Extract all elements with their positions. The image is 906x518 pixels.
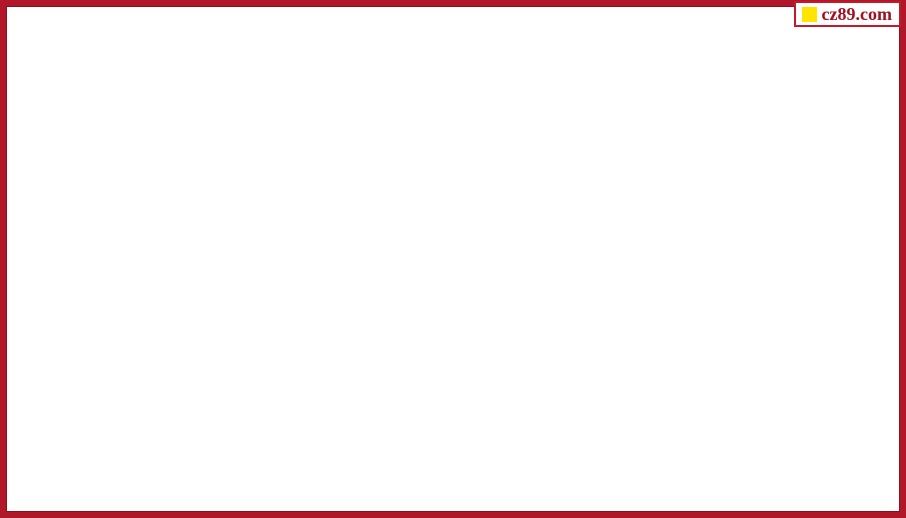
list-item-issue: 308期 — [408, 112, 476, 151]
list-item-body: 冬天今晚3d杀码更准6开奖 — [509, 247, 820, 286]
winter-photo — [12, 12, 354, 506]
photo-post — [224, 397, 226, 413]
lottery-poster: 3D 牛彩网 www.cz89.com 冬天 今晚3d杀码最准图 307期 冬天… — [0, 0, 906, 518]
watermark-url: www.cz89.com — [216, 476, 346, 493]
list-item: 307期 冬天今晚3d杀码更准5开奖164准 — [362, 64, 900, 109]
poster-title: 冬天 今晚3d杀码最准图 — [370, 12, 653, 62]
list-item: 309期 冬天今晚3d杀码更准4开奖190准 — [362, 154, 900, 199]
photo-post — [245, 407, 247, 420]
title-subtitle: 今晚3d杀码最准图 — [467, 37, 654, 59]
winter-photo-panel: 3D 牛彩网 www.cz89.com — [12, 12, 354, 506]
3d-logo-icon: 3D — [20, 20, 86, 76]
list-item-body: 冬天今晚3d杀码更准8开奖169准 — [476, 202, 854, 241]
list-item: 311期 冬天今晚3d杀码更准6开奖 — [362, 244, 900, 289]
photo-post — [265, 392, 267, 410]
photo-post — [286, 402, 288, 416]
list-item-body: 冬天今晚3d杀码更准5开奖164准 — [476, 67, 854, 106]
yellow-square-icon — [802, 7, 817, 22]
list-item-body: 冬天今晚3d杀码更准9开奖448准 — [476, 112, 854, 151]
photo-ridge-lines — [60, 131, 313, 279]
list-item-issue: 311期 — [443, 247, 510, 286]
list-item-issue: 310期 — [408, 202, 476, 241]
niucai-watermark: 牛彩网 www.cz89.com — [202, 440, 354, 498]
list-item: 308期 冬天今晚3d杀码更准9开奖448准 — [362, 109, 900, 154]
list-item: 310期 冬天今晚3d杀码更准8开奖169准 — [362, 199, 900, 244]
list-item-issue: 307期 — [408, 67, 476, 106]
logo-text: 3D — [20, 20, 86, 76]
title-main: 冬天 — [368, 22, 464, 62]
prediction-list: 307期 冬天今晚3d杀码更准5开奖164准 308期 冬天今晚3d杀码更准9开… — [362, 64, 900, 289]
list-item-issue: 309期 — [408, 157, 476, 196]
content-panel: 冬天 今晚3d杀码最准图 307期 冬天今晚3d杀码更准5开奖164准 308期… — [362, 6, 900, 512]
watermark-brand: 牛彩网 — [202, 440, 354, 480]
list-item-body: 冬天今晚3d杀码更准4开奖190准 — [476, 157, 854, 196]
cz89-badge-text: cz89.com — [822, 5, 892, 23]
vertical-divider — [356, 6, 361, 512]
cz89-badge[interactable]: cz89.com — [794, 1, 901, 27]
